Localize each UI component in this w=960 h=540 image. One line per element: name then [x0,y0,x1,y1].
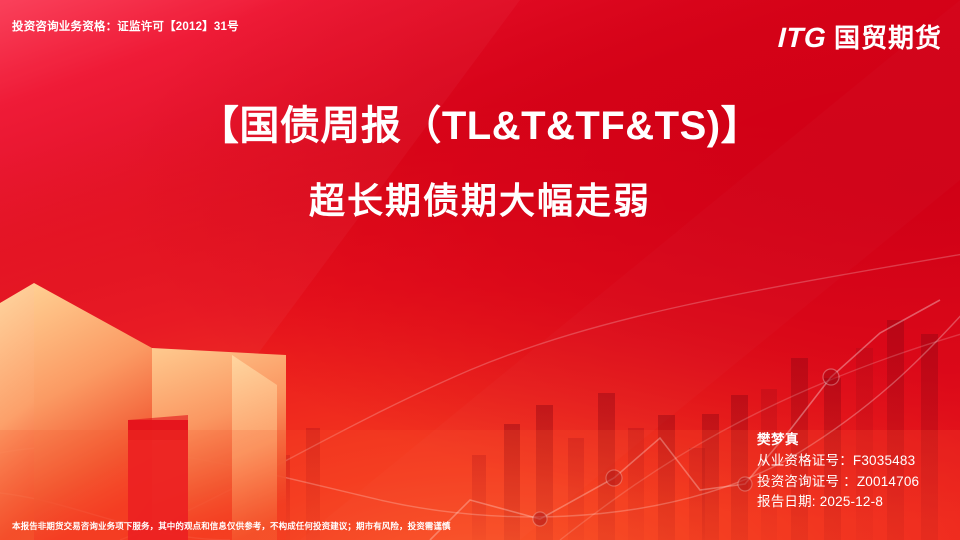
author-info-block: 樊梦真 从业资格证号：F3035483 投资咨询证号 ：Z0014706 报告日… [757,430,919,512]
report-cover-slide: 投资咨询业务资格：证监许可【2012】31号 ITG 国贸期货 【国债周报（TL… [0,0,960,540]
title-block: 【国债周报（TL&T&TF&TS)】 超长期债期大幅走弱 [0,103,960,224]
report-date: 报告日期: 2025-12-8 [757,492,919,512]
page-subtitle: 超长期债期大幅走弱 [0,172,960,224]
logo-company-name: 国贸期货 [834,18,942,55]
company-logo: ITG 国贸期货 [778,18,942,55]
logo-mark-itg: ITG [777,22,826,54]
author-practice-certificate: 从业资格证号：F3035483 [757,451,919,471]
page-title: 【国债周报（TL&T&TF&TS)】 [0,103,960,150]
abstract-m-building-shape [0,283,286,540]
footer-disclaimer: 本报告非期货交易咨询业务项下服务，其中的观点和信息仅供参考，不构成任何投资建议；… [12,520,451,532]
qualification-text: 投资咨询业务资格：证监许可【2012】31号 [12,18,239,34]
author-consulting-certificate: 投资咨询证号 ：Z0014706 [757,472,919,492]
author-name: 樊梦真 [757,430,919,450]
